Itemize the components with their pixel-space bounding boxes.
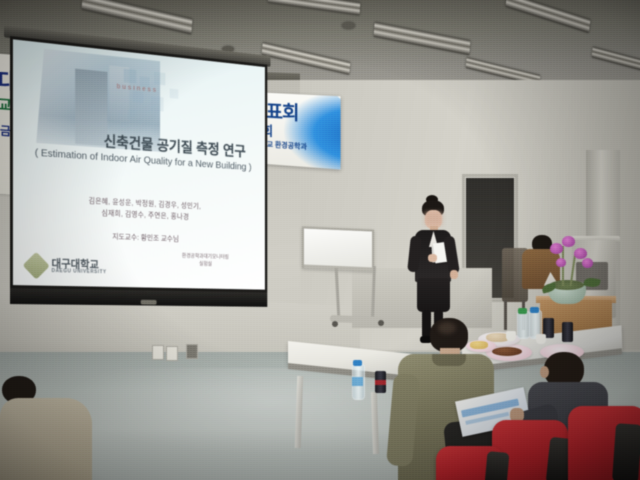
orchid-flower — [562, 236, 575, 247]
presenter-hand-right — [450, 270, 458, 279]
slide-advisor: 지도교수: 황민조 교수님 — [23, 228, 259, 247]
ceiling-speaker — [342, 22, 355, 29]
seat-armrest — [612, 423, 640, 480]
paper-cup — [506, 331, 516, 341]
slide-department: 환경공학과대기모니터링 실험실 — [154, 252, 255, 270]
wall-outlet — [152, 345, 164, 360]
bottle-cap — [530, 307, 539, 313]
can-stripe — [375, 380, 386, 385]
screen-bottom-bar — [10, 288, 267, 307]
slide-department-line-2: 실험실 — [154, 259, 255, 269]
bottle-cap — [518, 308, 527, 314]
seat-armrest — [485, 451, 510, 480]
audience-man-collar — [432, 354, 466, 366]
drink-can — [562, 322, 573, 342]
whiteboard-wheel — [378, 320, 384, 326]
presentation-slide: business 신축건물 공기질 측정 연구 ( Estimation of … — [13, 39, 265, 289]
presenter-hand-left — [428, 254, 437, 262]
wall-outlet — [186, 344, 198, 359]
wall-outlet — [166, 346, 178, 361]
audience-reader-ear — [540, 366, 549, 378]
whiteboard-wheel — [332, 321, 338, 327]
bottle-cap — [353, 360, 362, 366]
logo-diamond-icon — [23, 252, 50, 280]
projection-screen: business 신축건물 공기질 측정 연구 ( Estimation of … — [10, 36, 267, 310]
bottle-label — [352, 377, 363, 386]
orchid-flower — [582, 258, 593, 268]
university-logo: 대구대학교 DAEGU UNIVERSITY — [27, 254, 138, 282]
paper-cup — [536, 334, 546, 344]
presenter-skirt — [417, 278, 450, 312]
slide-square-motif — [124, 69, 201, 133]
logo-name-english: DAEGU UNIVERSITY — [52, 268, 107, 275]
chair-leg — [504, 300, 507, 330]
audience-left-body — [0, 398, 92, 480]
screen-pull-handle — [141, 300, 157, 305]
presenter-face-blur — [425, 212, 442, 225]
audience-man-hair-highlight — [438, 322, 456, 334]
orchid-flower — [556, 258, 566, 267]
photo-scene: 대 교 . (금) 발표회 표회 구대학교 환경공학과 — [0, 0, 640, 480]
orchid-flower — [550, 243, 563, 254]
